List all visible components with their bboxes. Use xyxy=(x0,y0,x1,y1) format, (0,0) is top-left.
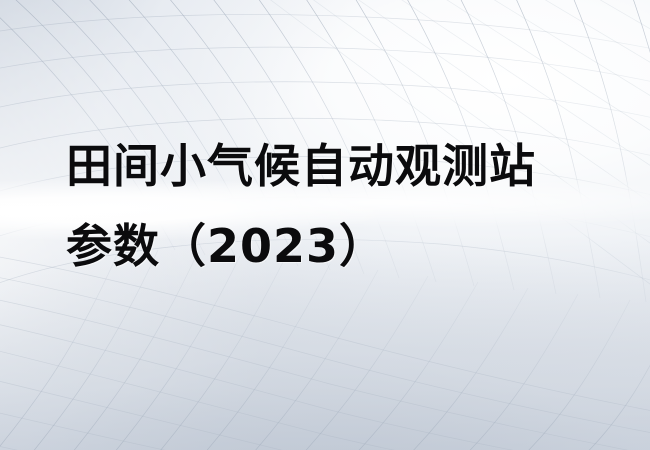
page-title: 田间小气候自动观测站 参数（2023） xyxy=(66,126,586,286)
title-slide: 田间小气候自动观测站 参数（2023） xyxy=(0,0,650,450)
page-title-line-1: 田间小气候自动观测站 xyxy=(66,126,586,206)
page-title-line-2: 参数（2023） xyxy=(66,206,586,286)
